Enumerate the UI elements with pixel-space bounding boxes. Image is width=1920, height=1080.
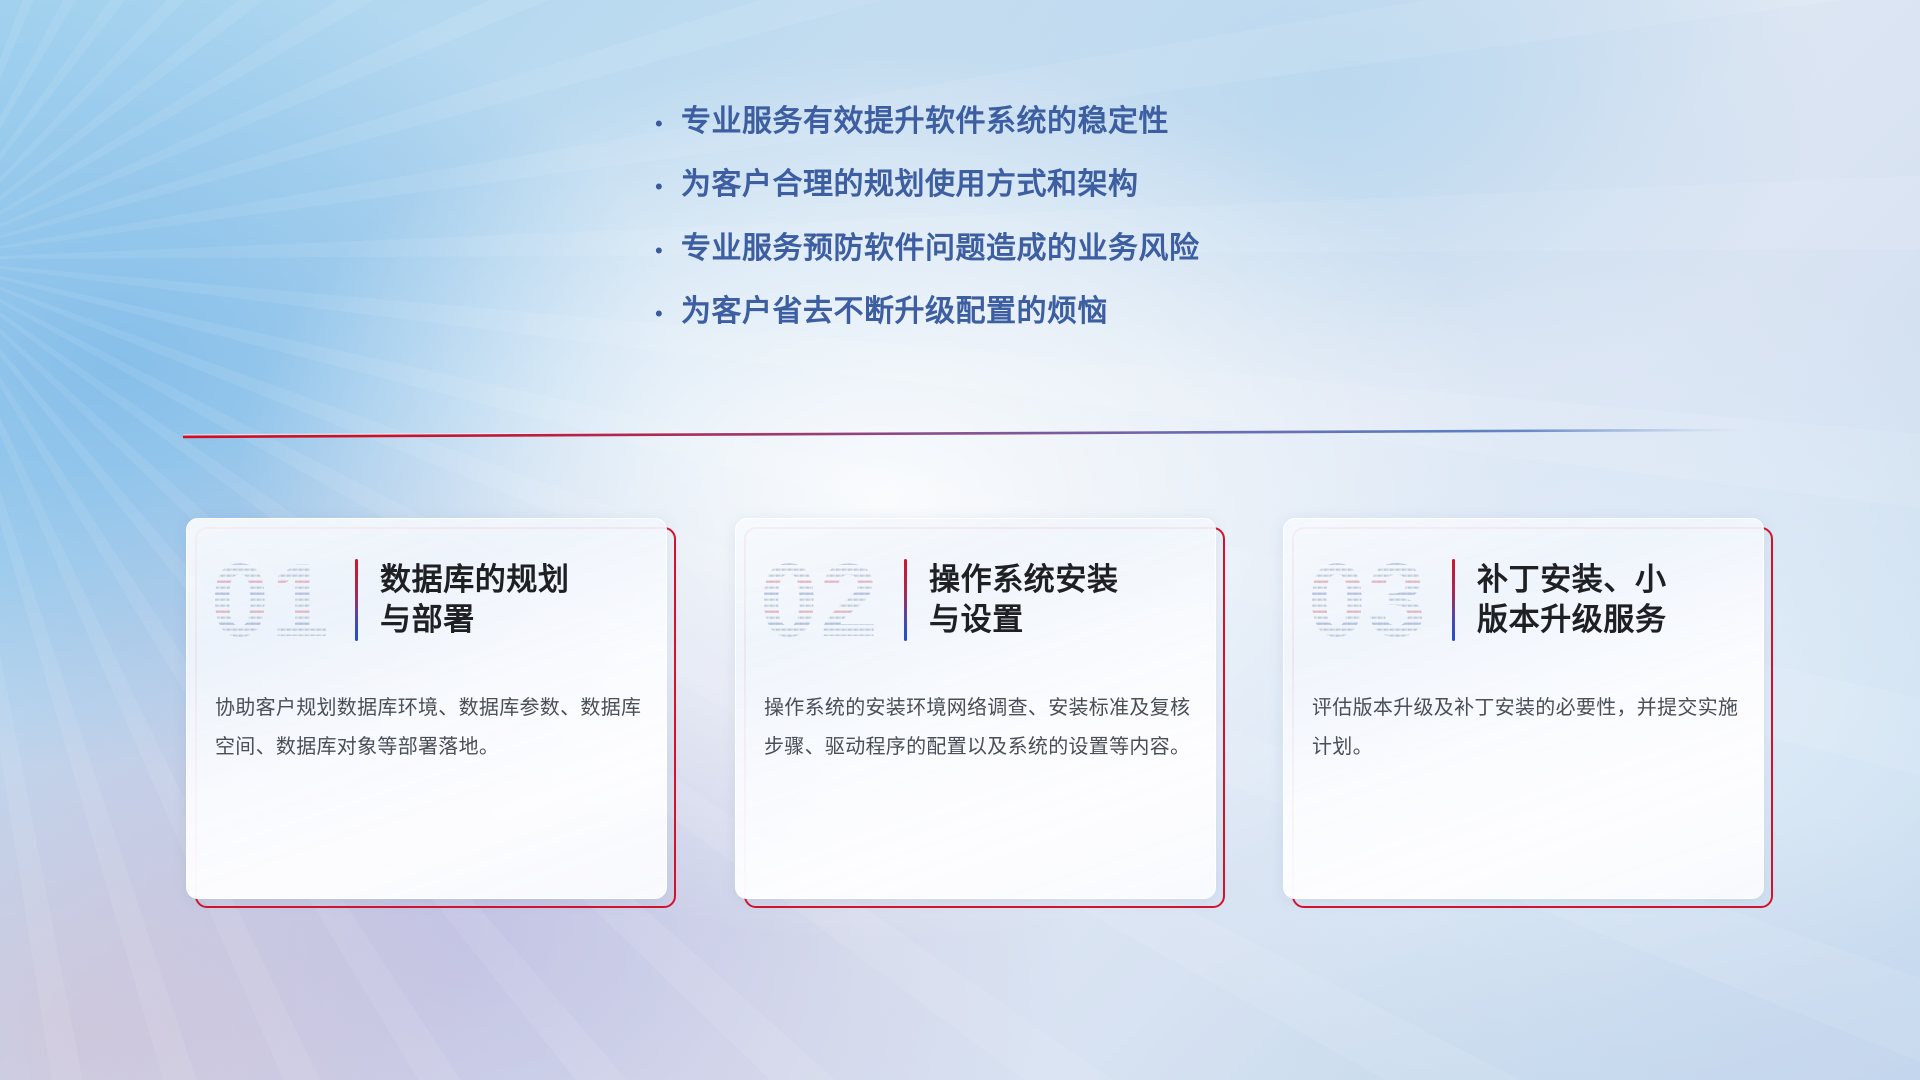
bullet-text: 专业服务有效提升软件系统的稳定性: [681, 104, 1169, 139]
card-panel: 01 01 数据库的规划 与部署 协助客户规划数据库环境、数据库参数、数据库空间…: [186, 518, 667, 899]
card-body-text: 协助客户规划数据库环境、数据库参数、数据库空间、数据库对象等部署落地。: [215, 689, 643, 767]
card-body-text: 操作系统的安装环境网络调查、安装标准及复核步骤、驱动程序的配置以及系统的设置等内…: [764, 689, 1192, 767]
card-panel: 03 03 补丁安装、小 版本升级服务 评估版本升级及补丁安装的必要性，并提交实…: [1283, 518, 1764, 899]
card-accent-bar: [355, 559, 358, 641]
service-card[interactable]: 01 01 数据库的规划 与部署 协助客户规划数据库环境、数据库参数、数据库空间…: [186, 518, 678, 908]
card-panel: 02 02 操作系统安装 与设置 操作系统的安装环境网络调查、安装标准及复核步骤…: [735, 518, 1216, 899]
card-number-striped-01: 01 01: [209, 544, 349, 656]
card-title-line-2: 与设置: [929, 600, 1205, 640]
card-title: 补丁安装、小 版本升级服务: [1477, 560, 1764, 641]
card-header: 02 02 操作系统安装 与设置: [736, 541, 1216, 659]
card-number-striped-03: 03 03: [1306, 544, 1446, 656]
service-card[interactable]: 02 02 操作系统安装 与设置 操作系统的安装环境网络调查、安装标准及复核步骤…: [735, 518, 1227, 908]
card-body-text: 评估版本升级及补丁安装的必要性，并提交实施计划。: [1312, 689, 1740, 767]
card-header: 03 03 补丁安装、小 版本升级服务: [1284, 541, 1764, 659]
card-title-line-1: 操作系统安装: [929, 560, 1205, 600]
bullet-dot-icon: •: [655, 240, 681, 262]
bullet-list: • 专业服务有效提升软件系统的稳定性 • 为客户合理的规划使用方式和架构 • 专…: [655, 104, 1415, 358]
card-accent-bar: [1452, 559, 1455, 641]
card-title-line-2: 版本升级服务: [1477, 600, 1753, 640]
list-item: • 专业服务有效提升软件系统的稳定性: [655, 104, 1415, 139]
svg-text:03: 03: [1308, 544, 1428, 656]
card-title: 操作系统安装 与设置: [929, 560, 1216, 641]
bullet-dot-icon: •: [655, 303, 681, 325]
list-item: • 为客户省去不断升级配置的烦恼: [655, 294, 1415, 329]
list-item: • 专业服务预防软件问题造成的业务风险: [655, 231, 1415, 266]
bullet-dot-icon: •: [655, 113, 681, 135]
svg-text:01: 01: [211, 544, 331, 656]
card-row: 01 01 数据库的规划 与部署 协助客户规划数据库环境、数据库参数、数据库空间…: [0, 518, 1920, 918]
service-card[interactable]: 03 03 补丁安装、小 版本升级服务 评估版本升级及补丁安装的必要性，并提交实…: [1283, 518, 1775, 908]
bullet-text: 专业服务预防软件问题造成的业务风险: [681, 231, 1200, 266]
list-item: • 为客户合理的规划使用方式和架构: [655, 167, 1415, 202]
svg-text:02: 02: [760, 544, 880, 656]
bullet-text: 为客户合理的规划使用方式和架构: [681, 167, 1139, 202]
card-number-striped-02: 02 02: [758, 544, 898, 656]
bullet-text: 为客户省去不断升级配置的烦恼: [681, 294, 1108, 329]
section-divider: [183, 420, 1743, 442]
bullet-dot-icon: •: [655, 176, 681, 198]
card-title: 数据库的规划 与部署: [380, 560, 667, 641]
card-title-line-1: 补丁安装、小: [1477, 560, 1753, 600]
card-accent-bar: [904, 559, 907, 641]
card-title-line-1: 数据库的规划: [380, 560, 656, 600]
slide-canvas: • 专业服务有效提升软件系统的稳定性 • 为客户合理的规划使用方式和架构 • 专…: [0, 0, 1920, 1080]
card-title-line-2: 与部署: [380, 600, 656, 640]
card-header: 01 01 数据库的规划 与部署: [187, 541, 667, 659]
